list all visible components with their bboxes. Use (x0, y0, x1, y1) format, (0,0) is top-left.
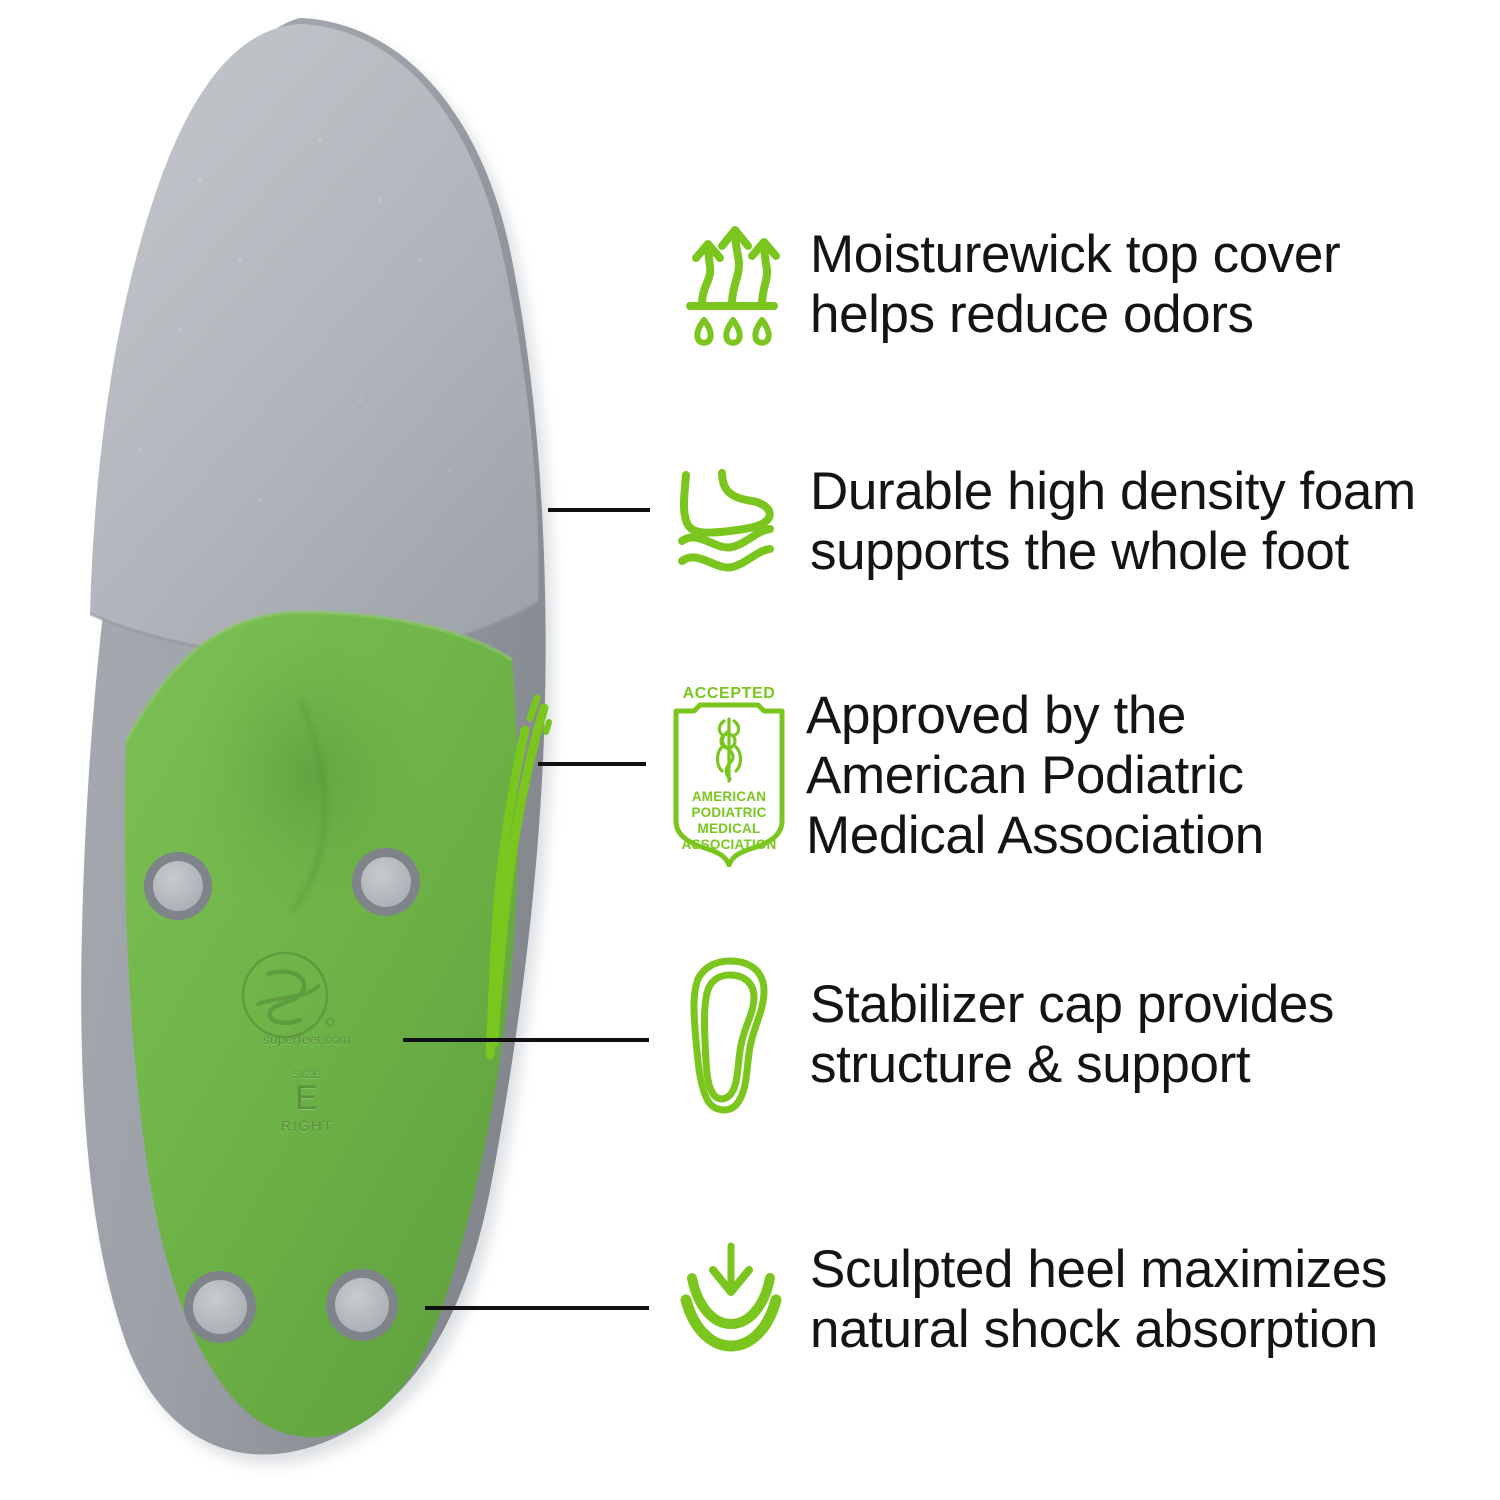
feature-foam: Durable high density foam supports the w… (672, 462, 1416, 582)
apma-seal-icon: ACCEPTED AMERICAN PODIATRIC (668, 685, 790, 867)
side-label-emboss: RIGHT (247, 1118, 367, 1135)
shock-absorption-icon (676, 1242, 786, 1358)
feature-shock-text: Sculpted heel maximizes natural shock ab… (810, 1240, 1387, 1360)
leader-line-apma (538, 762, 646, 766)
leader-line-foam (548, 508, 650, 512)
brand-url-emboss: superfeet.com (232, 1032, 382, 1047)
feature-apma: ACCEPTED AMERICAN PODIATRIC (668, 685, 1264, 867)
product-image (0, 0, 640, 1500)
feature-moisturewick: Moisturewick top cover helps reduce odor… (680, 222, 1340, 348)
size-value-emboss: E (247, 1079, 367, 1118)
feature-apma-text: Approved by the American Podiatric Medic… (806, 686, 1264, 866)
feature-foam-text: Durable high density foam supports the w… (810, 462, 1416, 582)
feature-stabilizer: Stabilizer cap provides structure & supp… (678, 955, 1334, 1115)
vent-hole-lower-right (326, 1269, 398, 1341)
moisture-arrows-icon (680, 222, 784, 348)
vent-hole-upper-left (144, 852, 212, 920)
feature-moisturewick-text: Moisturewick top cover helps reduce odor… (810, 225, 1340, 345)
infographic-canvas: superfeet.com SIZE E RIGHT (0, 0, 1500, 1500)
heel-cup-icon (678, 955, 782, 1115)
feature-stabilizer-text: Stabilizer cap provides structure & supp… (810, 975, 1334, 1095)
leader-line-stabilizer (403, 1038, 649, 1042)
vent-hole-lower-left (184, 1271, 256, 1343)
apma-organization-label: AMERICAN PODIATRIC MEDICAL ASSOCIATION (668, 789, 790, 853)
foot-waves-icon (672, 467, 788, 577)
vent-hole-upper-right (352, 848, 420, 916)
feature-shock: Sculpted heel maximizes natural shock ab… (676, 1240, 1387, 1360)
leader-line-shock (425, 1306, 649, 1310)
